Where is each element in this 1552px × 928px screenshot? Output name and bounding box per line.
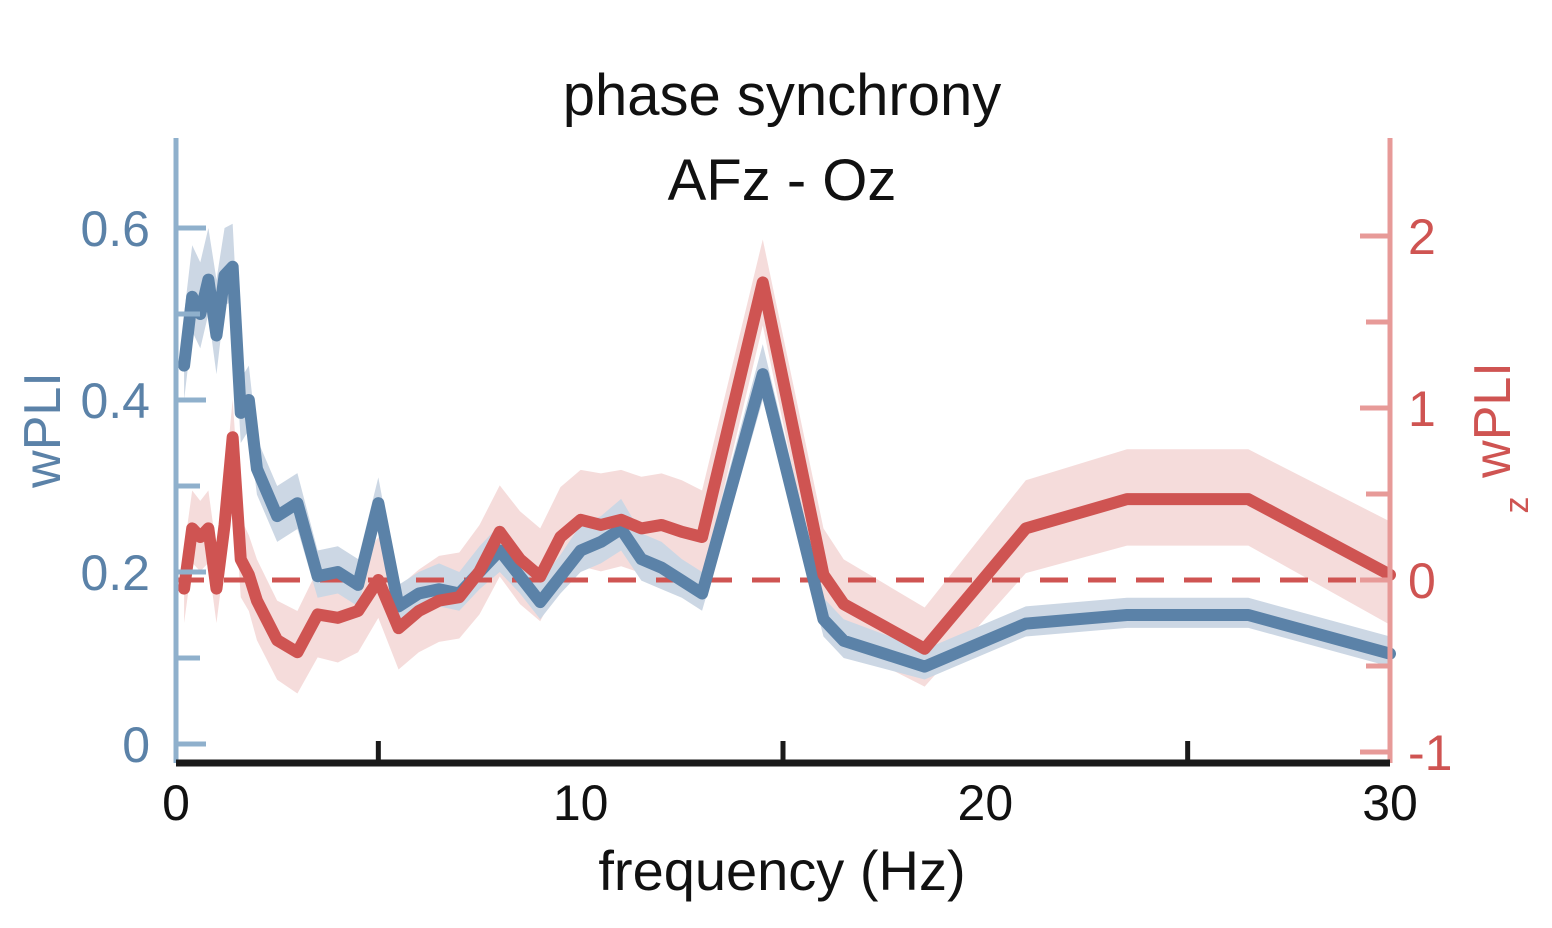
right-axis-label: wPLI (1464, 362, 1522, 479)
axis-tick-label: 10 (553, 775, 609, 831)
axis-tick-label: 0.4 (80, 373, 150, 429)
axis-tick-label: 0.2 (80, 545, 150, 601)
x-axis-label: frequency (Hz) (598, 839, 965, 902)
axis-tick-label: 0 (1408, 553, 1436, 609)
axis-tick-label: 2 (1408, 209, 1436, 265)
right-axis-label-subscript: z (1498, 497, 1536, 514)
phase-synchrony-chart: phase synchrony AFz - Oz 00.20.40.6 -101… (0, 0, 1552, 928)
left-axis-label: wPLI (14, 372, 72, 489)
axis-tick-label: 20 (958, 775, 1014, 831)
axis-tick-label: 0.6 (80, 201, 150, 257)
axis-tick-label: 1 (1408, 381, 1436, 437)
right-axis-ticks: -1012 (1360, 209, 1452, 781)
axis-tick-label: 0 (162, 775, 190, 831)
chart-title: phase synchrony (563, 63, 1001, 128)
axis-tick-label: -1 (1408, 725, 1452, 781)
x-axis-ticks: 0102030 (162, 741, 1418, 831)
left-axis-ticks: 00.20.40.6 (80, 201, 206, 773)
axis-tick-label: 30 (1362, 775, 1418, 831)
axis-tick-label: 0 (122, 717, 150, 773)
chart-subtitle: AFz - Oz (668, 148, 897, 213)
